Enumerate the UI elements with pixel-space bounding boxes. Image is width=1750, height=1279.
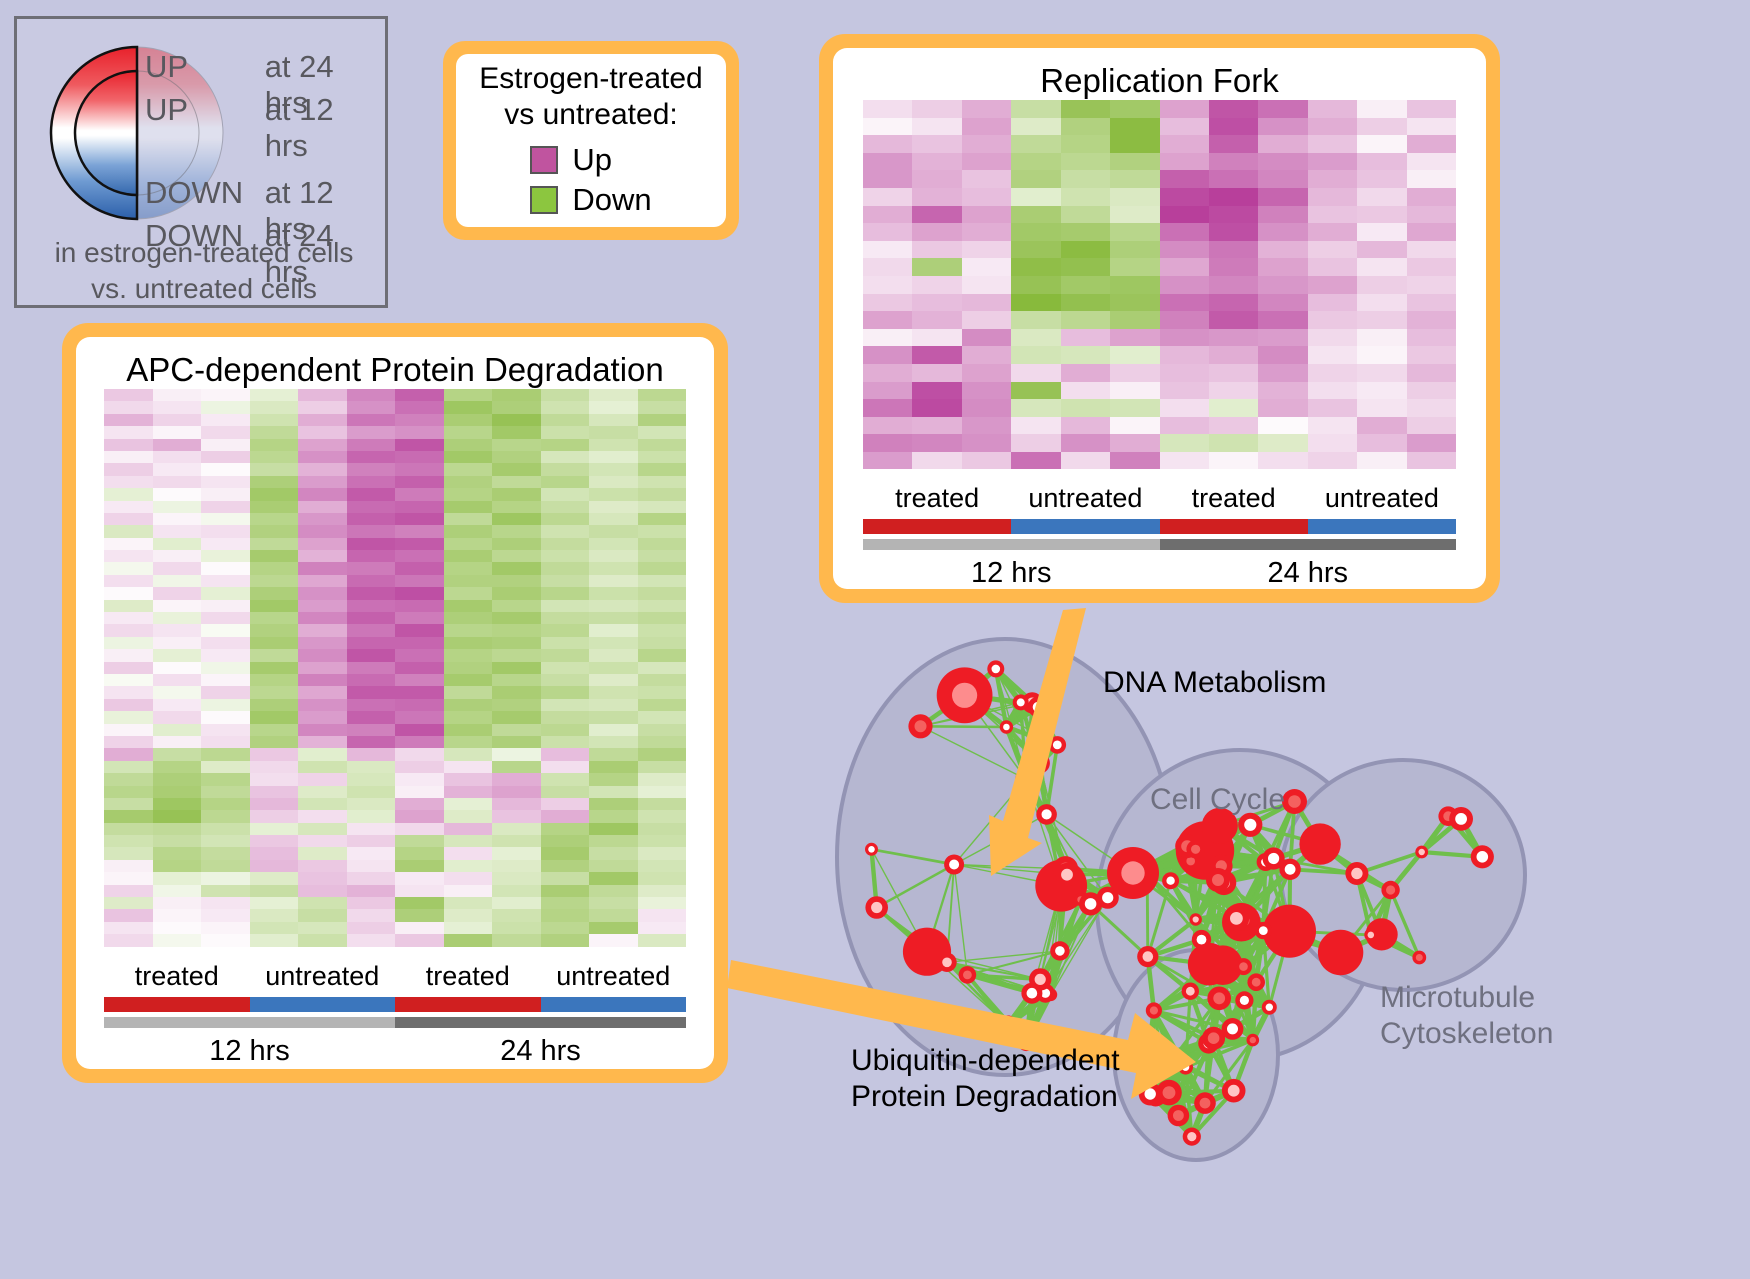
network-edge [965, 695, 1033, 703]
network-node[interactable] [1471, 845, 1494, 868]
network-node[interactable] [1022, 692, 1043, 713]
treatment-bar-apc-segment-treated-24 [395, 997, 541, 1012]
network-edge [967, 975, 1045, 993]
network-edge [1221, 866, 1263, 931]
network-edge [1253, 1007, 1270, 1040]
network-edge [1295, 802, 1321, 845]
network-edge [1224, 883, 1237, 919]
network-edge [1148, 940, 1202, 957]
network-edge [1196, 849, 1274, 858]
cluster-ellipse-microtubule [1281, 760, 1525, 990]
cluster-ellipse-dna-metabolism [837, 639, 1173, 1075]
network-edge [1205, 1038, 1214, 1103]
heatmap-cell [104, 476, 153, 488]
network-node[interactable] [1211, 870, 1236, 895]
heatmap-cell [444, 909, 493, 921]
heatmap-cell [1407, 364, 1456, 382]
network-node[interactable] [1015, 768, 1037, 790]
network-node[interactable] [1262, 1000, 1277, 1015]
network-edge [996, 669, 1021, 703]
network-edge [1147, 866, 1221, 875]
heatmap-cell [444, 389, 493, 401]
heatmap-cell [492, 823, 541, 835]
heatmap-cell [638, 934, 687, 946]
heatmap-cell [589, 389, 638, 401]
network-node[interactable] [1175, 834, 1199, 858]
network-edge [1371, 890, 1391, 935]
network-node[interactable] [1140, 868, 1154, 882]
network-node[interactable] [1222, 1079, 1246, 1103]
network-edge [1183, 847, 1195, 920]
network-node[interactable] [937, 667, 993, 723]
network-edge [1214, 982, 1257, 1038]
treatment-bar-apc [104, 997, 686, 1012]
heatmap-cell [589, 724, 638, 736]
heatmap-cell [1308, 241, 1357, 259]
heatmap-cell [153, 538, 202, 550]
network-node[interactable] [1263, 905, 1316, 958]
heatmap-cell [201, 587, 250, 599]
network-edge [996, 669, 1038, 707]
network-edge [1205, 825, 1250, 851]
network-node[interactable] [1053, 856, 1078, 881]
network-edge [1205, 851, 1221, 866]
heatmap-cell [444, 426, 493, 438]
network-edge [1196, 849, 1224, 882]
network-node[interactable] [1247, 1034, 1260, 1047]
heatmap-cell [104, 885, 153, 897]
heatmap-cell [1357, 258, 1406, 276]
network-node[interactable] [1263, 847, 1285, 869]
network-edge [1026, 763, 1040, 779]
heatmap-cell [1308, 276, 1357, 294]
network-node[interactable] [1036, 804, 1057, 825]
network-node[interactable] [1279, 859, 1300, 880]
network-node[interactable] [1036, 984, 1055, 1003]
network-label-microtubule-line2: Cytoskeleton [1380, 1016, 1553, 1052]
heatmap-cell [1258, 276, 1307, 294]
network-node[interactable] [1364, 928, 1377, 941]
network-edge [1045, 993, 1050, 995]
network-node[interactable] [1190, 913, 1202, 925]
network-node[interactable] [1202, 1027, 1225, 1050]
heatmap-cell [347, 463, 396, 475]
heatmap-cell [1160, 346, 1209, 364]
heatmap-cell [250, 786, 299, 798]
network-edge [1219, 918, 1236, 998]
heatmap-cell [1160, 118, 1209, 136]
heatmap-cell [492, 711, 541, 723]
network-node-core [1055, 946, 1065, 956]
heatmap-cell [541, 847, 590, 859]
network-edge [1067, 875, 1108, 898]
heatmap-cell [153, 575, 202, 587]
network-edge [1202, 940, 1244, 967]
network-edge [1021, 702, 1040, 763]
heatmap-cell [395, 637, 444, 649]
heatmap-cell [201, 414, 250, 426]
network-node[interactable] [1162, 872, 1179, 889]
network-node[interactable] [1167, 1052, 1180, 1065]
heatmap-cell [1011, 276, 1060, 294]
heatmap-cell [298, 538, 347, 550]
network-edge [1171, 881, 1196, 920]
timepoint-bar-segment-24hrs [1160, 539, 1457, 550]
timepoint-bar-apc-segment-12hrs [104, 1017, 395, 1028]
heatmap-cell [638, 476, 687, 488]
network-edge [947, 962, 1051, 994]
network-node[interactable] [865, 843, 878, 856]
network-edge [1244, 1000, 1269, 1007]
network-edge [1150, 1038, 1213, 1094]
heatmap-cell [863, 100, 912, 118]
heatmap-cell [1357, 434, 1406, 452]
network-node[interactable] [1137, 946, 1158, 967]
network-node-core [1203, 1038, 1213, 1048]
network-node[interactable] [1415, 846, 1428, 859]
heatmap-cell [250, 909, 299, 921]
network-edge [1171, 881, 1241, 913]
network-node[interactable] [1194, 1092, 1216, 1114]
heatmap-cell [104, 662, 153, 674]
heatmap-cell [638, 575, 687, 587]
network-node-core [1213, 992, 1225, 1004]
network-node-core [1077, 896, 1084, 903]
network-node[interactable] [1282, 789, 1307, 814]
network-edge [1150, 1094, 1156, 1096]
heatmap-cell [1209, 118, 1258, 136]
network-node[interactable] [1079, 892, 1102, 915]
network-edge [1244, 967, 1270, 1008]
network-edge [1190, 991, 1269, 1007]
network-node[interactable] [1234, 911, 1254, 931]
network-edge [1224, 883, 1241, 913]
treatment-bar-segment-untreated-12 [1011, 519, 1159, 534]
network-node-core [1285, 864, 1296, 875]
heatmap-cell [492, 401, 541, 413]
heatmap-cell [541, 612, 590, 624]
heatmap-cell [1011, 364, 1060, 382]
network-node[interactable] [1224, 906, 1249, 931]
network-node[interactable] [1178, 1060, 1193, 1075]
network-node[interactable] [1192, 930, 1211, 949]
heatmap-cell [298, 897, 347, 909]
network-edge [1187, 846, 1205, 850]
network-node[interactable] [944, 855, 964, 875]
network-edge [1108, 875, 1148, 898]
heatmap-cell [444, 637, 493, 649]
heatmap-cell [250, 674, 299, 686]
heatmap-cell [395, 885, 444, 897]
heatmap-cell [347, 451, 396, 463]
network-edge [1244, 921, 1245, 967]
network-edge [1221, 866, 1224, 883]
network-edge [1191, 861, 1218, 880]
legend-row-up-12: UP at 12 hrs [145, 92, 385, 135]
heatmap-cell [153, 624, 202, 636]
heatmap-cell [589, 649, 638, 661]
network-node[interactable] [1412, 951, 1426, 965]
heatmap-cell [298, 872, 347, 884]
network-edge [1032, 886, 1061, 994]
heatmap-cell [1357, 170, 1406, 188]
network-edge [1245, 921, 1264, 931]
heatmap-cell [541, 587, 590, 599]
heatmap-cell [1011, 434, 1060, 452]
network-node[interactable] [1029, 753, 1050, 774]
heatmap-cell [298, 649, 347, 661]
heatmap-cell [298, 389, 347, 401]
heatmap-cell [1407, 188, 1456, 206]
network-node[interactable] [1000, 720, 1013, 733]
heatmap-cell [589, 488, 638, 500]
heatmap-cell [201, 909, 250, 921]
network-node[interactable] [1247, 973, 1265, 991]
network-node[interactable] [1222, 903, 1261, 942]
heatmap-cell [395, 773, 444, 785]
heatmap-cell [444, 699, 493, 711]
updown-label-up: Up [572, 142, 612, 178]
network-node[interactable] [1050, 941, 1069, 960]
heatmap-cell [1308, 223, 1357, 241]
heatmap-cell [1258, 100, 1307, 118]
network-edge [1066, 869, 1081, 900]
network-edge [1205, 851, 1224, 883]
network-edge [1169, 1093, 1192, 1137]
heatmap-cell [638, 426, 687, 438]
network-node[interactable] [1176, 839, 1191, 854]
network-node[interactable] [1168, 1105, 1190, 1127]
network-edge [921, 695, 965, 726]
network-node[interactable] [1182, 983, 1199, 1000]
heatmap-cell [541, 823, 590, 835]
network-node[interactable] [1028, 697, 1048, 717]
heatmap-cell [492, 550, 541, 562]
network-edge [1218, 880, 1245, 921]
network-node[interactable] [1074, 893, 1087, 906]
heatmap-cell [395, 439, 444, 451]
network-node[interactable] [1207, 987, 1231, 1011]
network-edge [1218, 880, 1236, 918]
heatmap-cell [153, 414, 202, 426]
network-node[interactable] [998, 1015, 1017, 1034]
network-edge [1218, 880, 1223, 965]
heatmap-cell [104, 550, 153, 562]
network-edge [1320, 844, 1391, 890]
network-node-core [1033, 702, 1043, 712]
network-edge [1218, 869, 1290, 880]
heatmap-cell [298, 835, 347, 847]
heatmap-cell [1061, 452, 1110, 470]
network-edge [1061, 886, 1108, 898]
heatmap-cell [1308, 329, 1357, 347]
network-edge [1008, 951, 1060, 1025]
network-node-core [1186, 857, 1195, 866]
network-edge [1263, 862, 1265, 931]
network-node[interactable] [1318, 930, 1363, 975]
heatmap-cell [201, 686, 250, 698]
network-edge [1214, 1038, 1234, 1091]
network-node[interactable] [1029, 968, 1051, 990]
network-node[interactable] [1449, 807, 1473, 831]
heatmap-cell [153, 860, 202, 872]
heatmap-cell [201, 637, 250, 649]
network-edge [1218, 880, 1289, 931]
network-node[interactable] [1198, 1033, 1219, 1054]
network-node[interactable] [1097, 887, 1119, 909]
network-edge [1148, 1060, 1150, 1095]
heatmap-cell [492, 612, 541, 624]
heatmap-cell [104, 488, 153, 500]
network-edge [1202, 940, 1245, 1001]
heatmap-cell [638, 550, 687, 562]
network-node[interactable] [1021, 983, 1042, 1004]
heatmap-cell [1308, 135, 1357, 153]
network-edge [1357, 874, 1371, 935]
network-edge [1187, 846, 1196, 849]
heatmap-cell [1357, 135, 1406, 153]
network-node[interactable] [1145, 1085, 1167, 1107]
network-node[interactable] [1044, 988, 1057, 1001]
group-label-untreated-24: untreated [1308, 483, 1456, 514]
network-node[interactable] [1182, 853, 1199, 870]
network-node[interactable] [1183, 1128, 1201, 1146]
network-node[interactable] [1255, 922, 1272, 939]
network-node[interactable] [1222, 1018, 1244, 1040]
heatmap-cell [492, 501, 541, 513]
network-edge [1032, 703, 1038, 707]
network-node[interactable] [987, 660, 1004, 677]
network-edge [965, 695, 1040, 763]
network-node[interactable] [1381, 881, 1399, 899]
heatmap-cell [444, 810, 493, 822]
network-edge [1187, 846, 1241, 912]
network-edge [872, 849, 955, 864]
network-node[interactable] [1035, 860, 1087, 912]
heatmap-cell [444, 476, 493, 488]
heatmap-cell [347, 810, 396, 822]
network-node[interactable] [1299, 823, 1340, 864]
heatmap-cell [1357, 417, 1406, 435]
heatmap-cell [153, 748, 202, 760]
heatmap-cell [1407, 434, 1456, 452]
network-node[interactable] [903, 928, 951, 976]
heatmap-cell [104, 525, 153, 537]
network-node[interactable] [1235, 958, 1252, 975]
network-edge [872, 849, 928, 951]
network-edge [1147, 875, 1201, 940]
network-node[interactable] [1156, 1080, 1182, 1106]
network-edge [1032, 904, 1091, 993]
heatmap-cell [912, 311, 961, 329]
heatmap-cell [1160, 188, 1209, 206]
network-edge [1236, 918, 1289, 931]
heatmap-cell [912, 417, 961, 435]
heatmap-cell [1110, 364, 1159, 382]
network-node[interactable] [1232, 904, 1250, 922]
network-node-core [1216, 860, 1227, 871]
network-edge [1202, 921, 1245, 940]
heatmap-cell [444, 600, 493, 612]
network-node[interactable] [1055, 863, 1079, 887]
network-node[interactable] [937, 953, 956, 972]
network-node[interactable] [1210, 855, 1233, 878]
network-node[interactable] [1366, 918, 1398, 950]
heatmap-cell [298, 426, 347, 438]
heatmap-cell [1011, 135, 1060, 153]
network-node[interactable] [1186, 840, 1204, 858]
network-edge [1245, 869, 1291, 921]
network-node[interactable] [1188, 943, 1231, 986]
heatmap-cell [1407, 452, 1456, 470]
heatmap-cell [541, 426, 590, 438]
heatmap-cell [1258, 258, 1307, 276]
heatmap-cell [1308, 170, 1357, 188]
network-edge [1341, 934, 1382, 952]
heatmap-cell [347, 575, 396, 587]
heatmap-cell [912, 170, 961, 188]
network-edge [1060, 886, 1061, 951]
network-node[interactable] [865, 896, 888, 919]
heatmap-cell [444, 786, 493, 798]
network-node[interactable] [908, 714, 932, 738]
network-edge [1224, 859, 1274, 883]
network-edge [1196, 826, 1220, 850]
heatmap-cell [153, 773, 202, 785]
network-edge [1183, 825, 1250, 847]
heatmap-cell [1061, 364, 1110, 382]
network-edge [1223, 931, 1264, 966]
network-edge [1191, 851, 1205, 862]
network-node[interactable] [1107, 847, 1159, 899]
network-node[interactable] [1257, 853, 1275, 871]
network-node[interactable] [1146, 1002, 1162, 1018]
network-node[interactable] [1049, 736, 1067, 754]
network-node[interactable] [959, 966, 977, 984]
heatmap-cell [589, 401, 638, 413]
heatmap-cell [250, 823, 299, 835]
heatmap-cell [104, 637, 153, 649]
network-edge [1147, 875, 1224, 883]
network-node[interactable] [1140, 1051, 1156, 1067]
network-edge [1006, 702, 1020, 727]
network-node[interactable] [1206, 868, 1230, 892]
network-edge [1038, 707, 1040, 763]
network-node[interactable] [1139, 1083, 1162, 1106]
network-edge [1209, 1040, 1253, 1043]
heatmap-cell [1110, 399, 1159, 417]
heatmap-cell [1258, 223, 1307, 241]
network-node[interactable] [1345, 862, 1368, 885]
heatmap-cell [395, 897, 444, 909]
network-node[interactable] [1013, 694, 1029, 710]
heatmap-cell [638, 885, 687, 897]
heatmap-cell [347, 674, 396, 686]
heatmap-cell [1258, 153, 1307, 171]
network-node[interactable] [1438, 806, 1458, 826]
network-node[interactable] [1203, 945, 1243, 985]
heatmap-cell [1209, 170, 1258, 188]
heatmap-cell [444, 649, 493, 661]
heatmap-cell [492, 476, 541, 488]
heatmap-cell [863, 153, 912, 171]
heatmap-cell [589, 761, 638, 773]
network-edge [1241, 869, 1291, 912]
heatmap-cell [1357, 276, 1406, 294]
network-node[interactable] [1176, 821, 1234, 879]
network-edge [1191, 861, 1222, 866]
network-node[interactable] [1235, 991, 1253, 1009]
